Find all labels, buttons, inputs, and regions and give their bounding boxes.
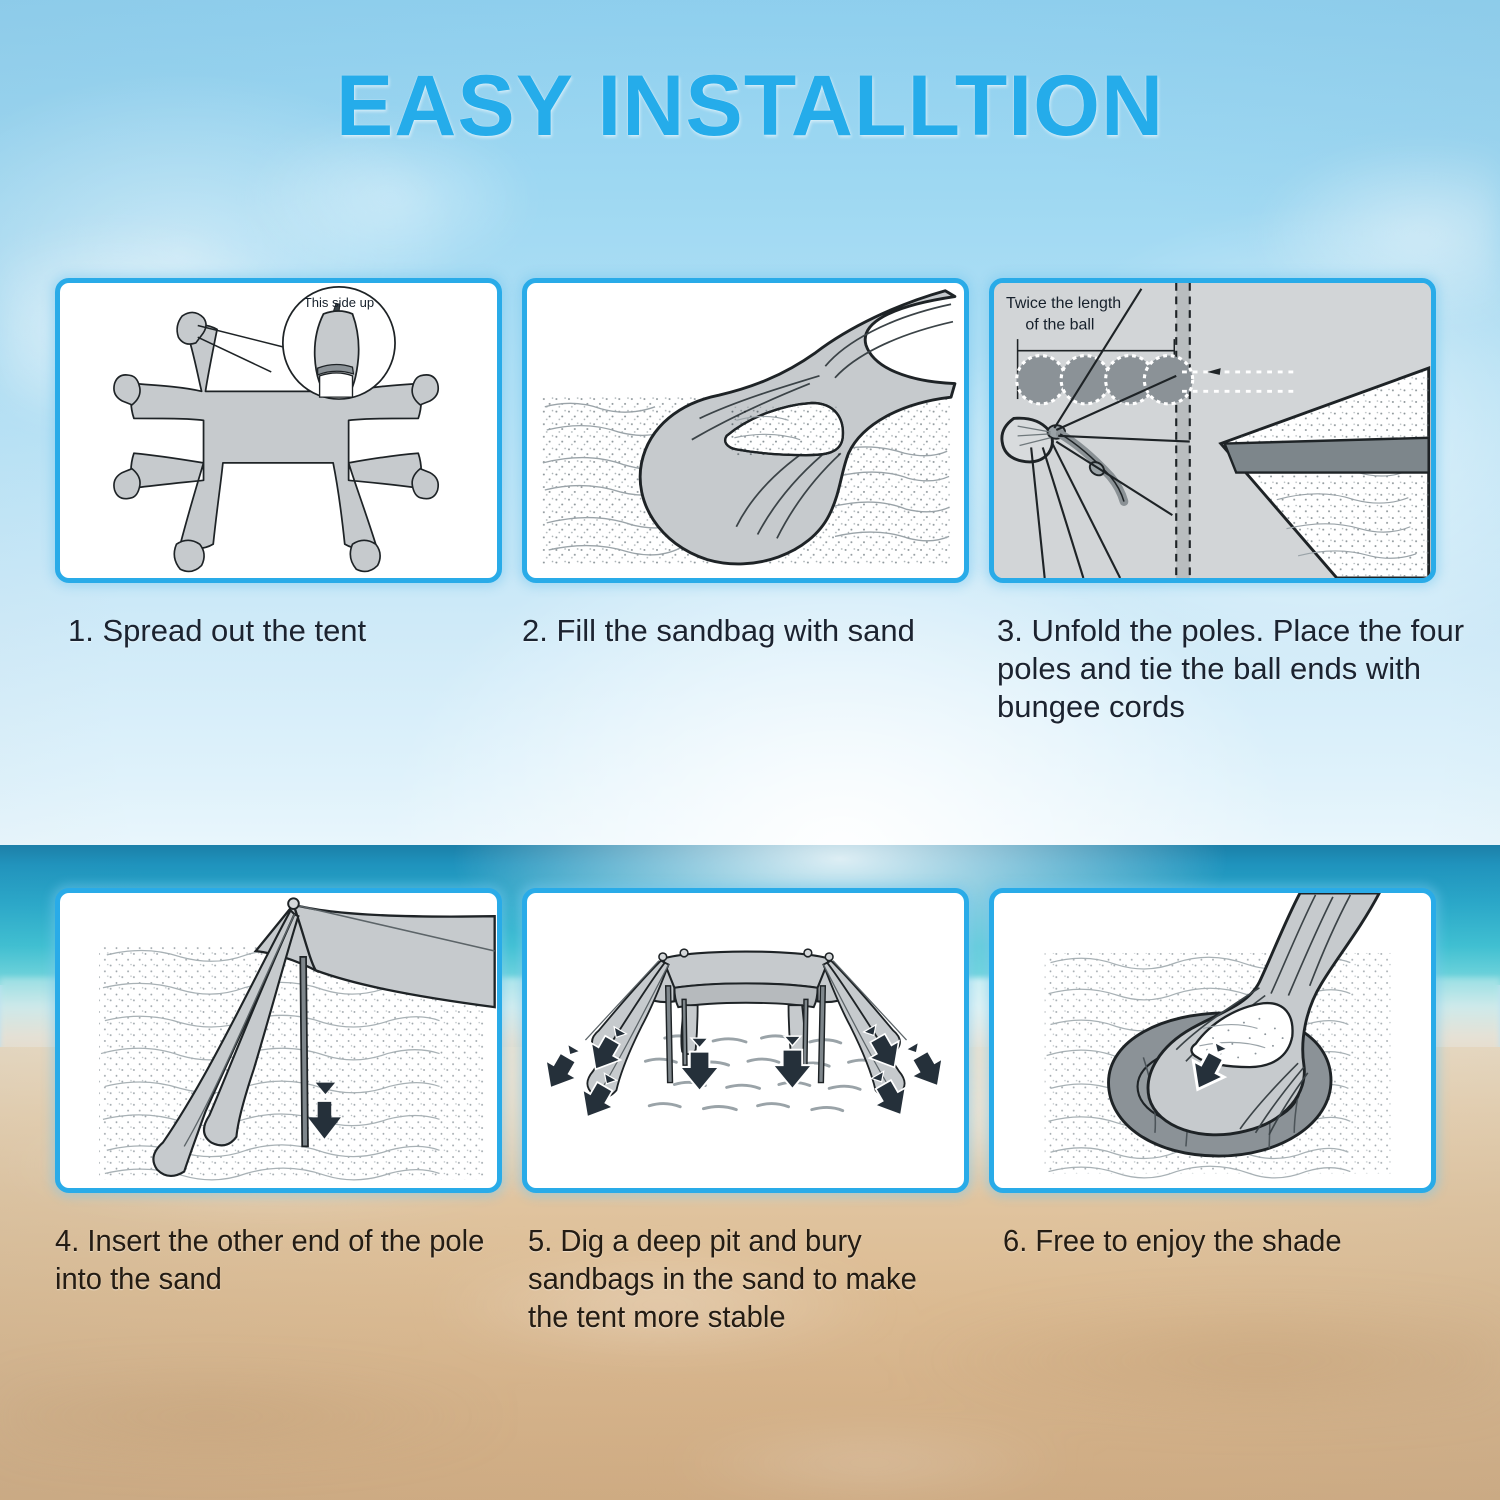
step-2-caption: 2. Fill the sandbag with sand	[522, 612, 992, 650]
infographic: EASY INSTALLTION	[0, 0, 1500, 1500]
step-4-illustration	[60, 893, 497, 1188]
this-side-up-label: This side up	[304, 295, 374, 310]
step-1-caption: 1. Spread out the tent	[68, 612, 523, 650]
step-6-illustration	[994, 893, 1431, 1188]
step-3-illustration: Twice the length of the ball	[994, 283, 1431, 578]
magnified-sleeve	[315, 303, 359, 397]
step-3-panel: Twice the length of the ball	[989, 278, 1436, 583]
twice-length-label-line2: of the ball	[1025, 316, 1094, 333]
step-5-caption: 5. Dig a deep pit and bury sandbags in t…	[528, 1222, 946, 1335]
sand-ripples	[645, 1036, 877, 1111]
step-2-illustration	[527, 283, 964, 578]
pole-column	[1176, 283, 1190, 578]
step-4-caption: 4. Insert the other end of the pole into…	[55, 1222, 506, 1298]
step-4-panel	[55, 888, 502, 1193]
tent-pole	[300, 957, 308, 1147]
magnifier-callout: This side up	[283, 287, 395, 399]
step-1-panel: This side up	[55, 278, 502, 583]
step-3-caption: 3. Unfold the poles. Place the four pole…	[997, 612, 1477, 725]
guy-line-sleeves-right	[823, 961, 906, 1098]
step-1-illustration: This side up	[60, 283, 497, 578]
step-5-illustration	[527, 893, 964, 1188]
twice-length-label-line1: Twice the length	[1006, 295, 1121, 312]
page-title: EASY INSTALLTION	[0, 63, 1500, 149]
step-2-panel	[522, 278, 969, 583]
tent-canopy	[645, 949, 846, 1054]
step-5-panel	[522, 888, 969, 1193]
step-6-caption: 6. Free to enjoy the shade	[1003, 1222, 1445, 1260]
step-6-panel	[989, 888, 1436, 1193]
guy-line-sleeves	[585, 961, 668, 1098]
